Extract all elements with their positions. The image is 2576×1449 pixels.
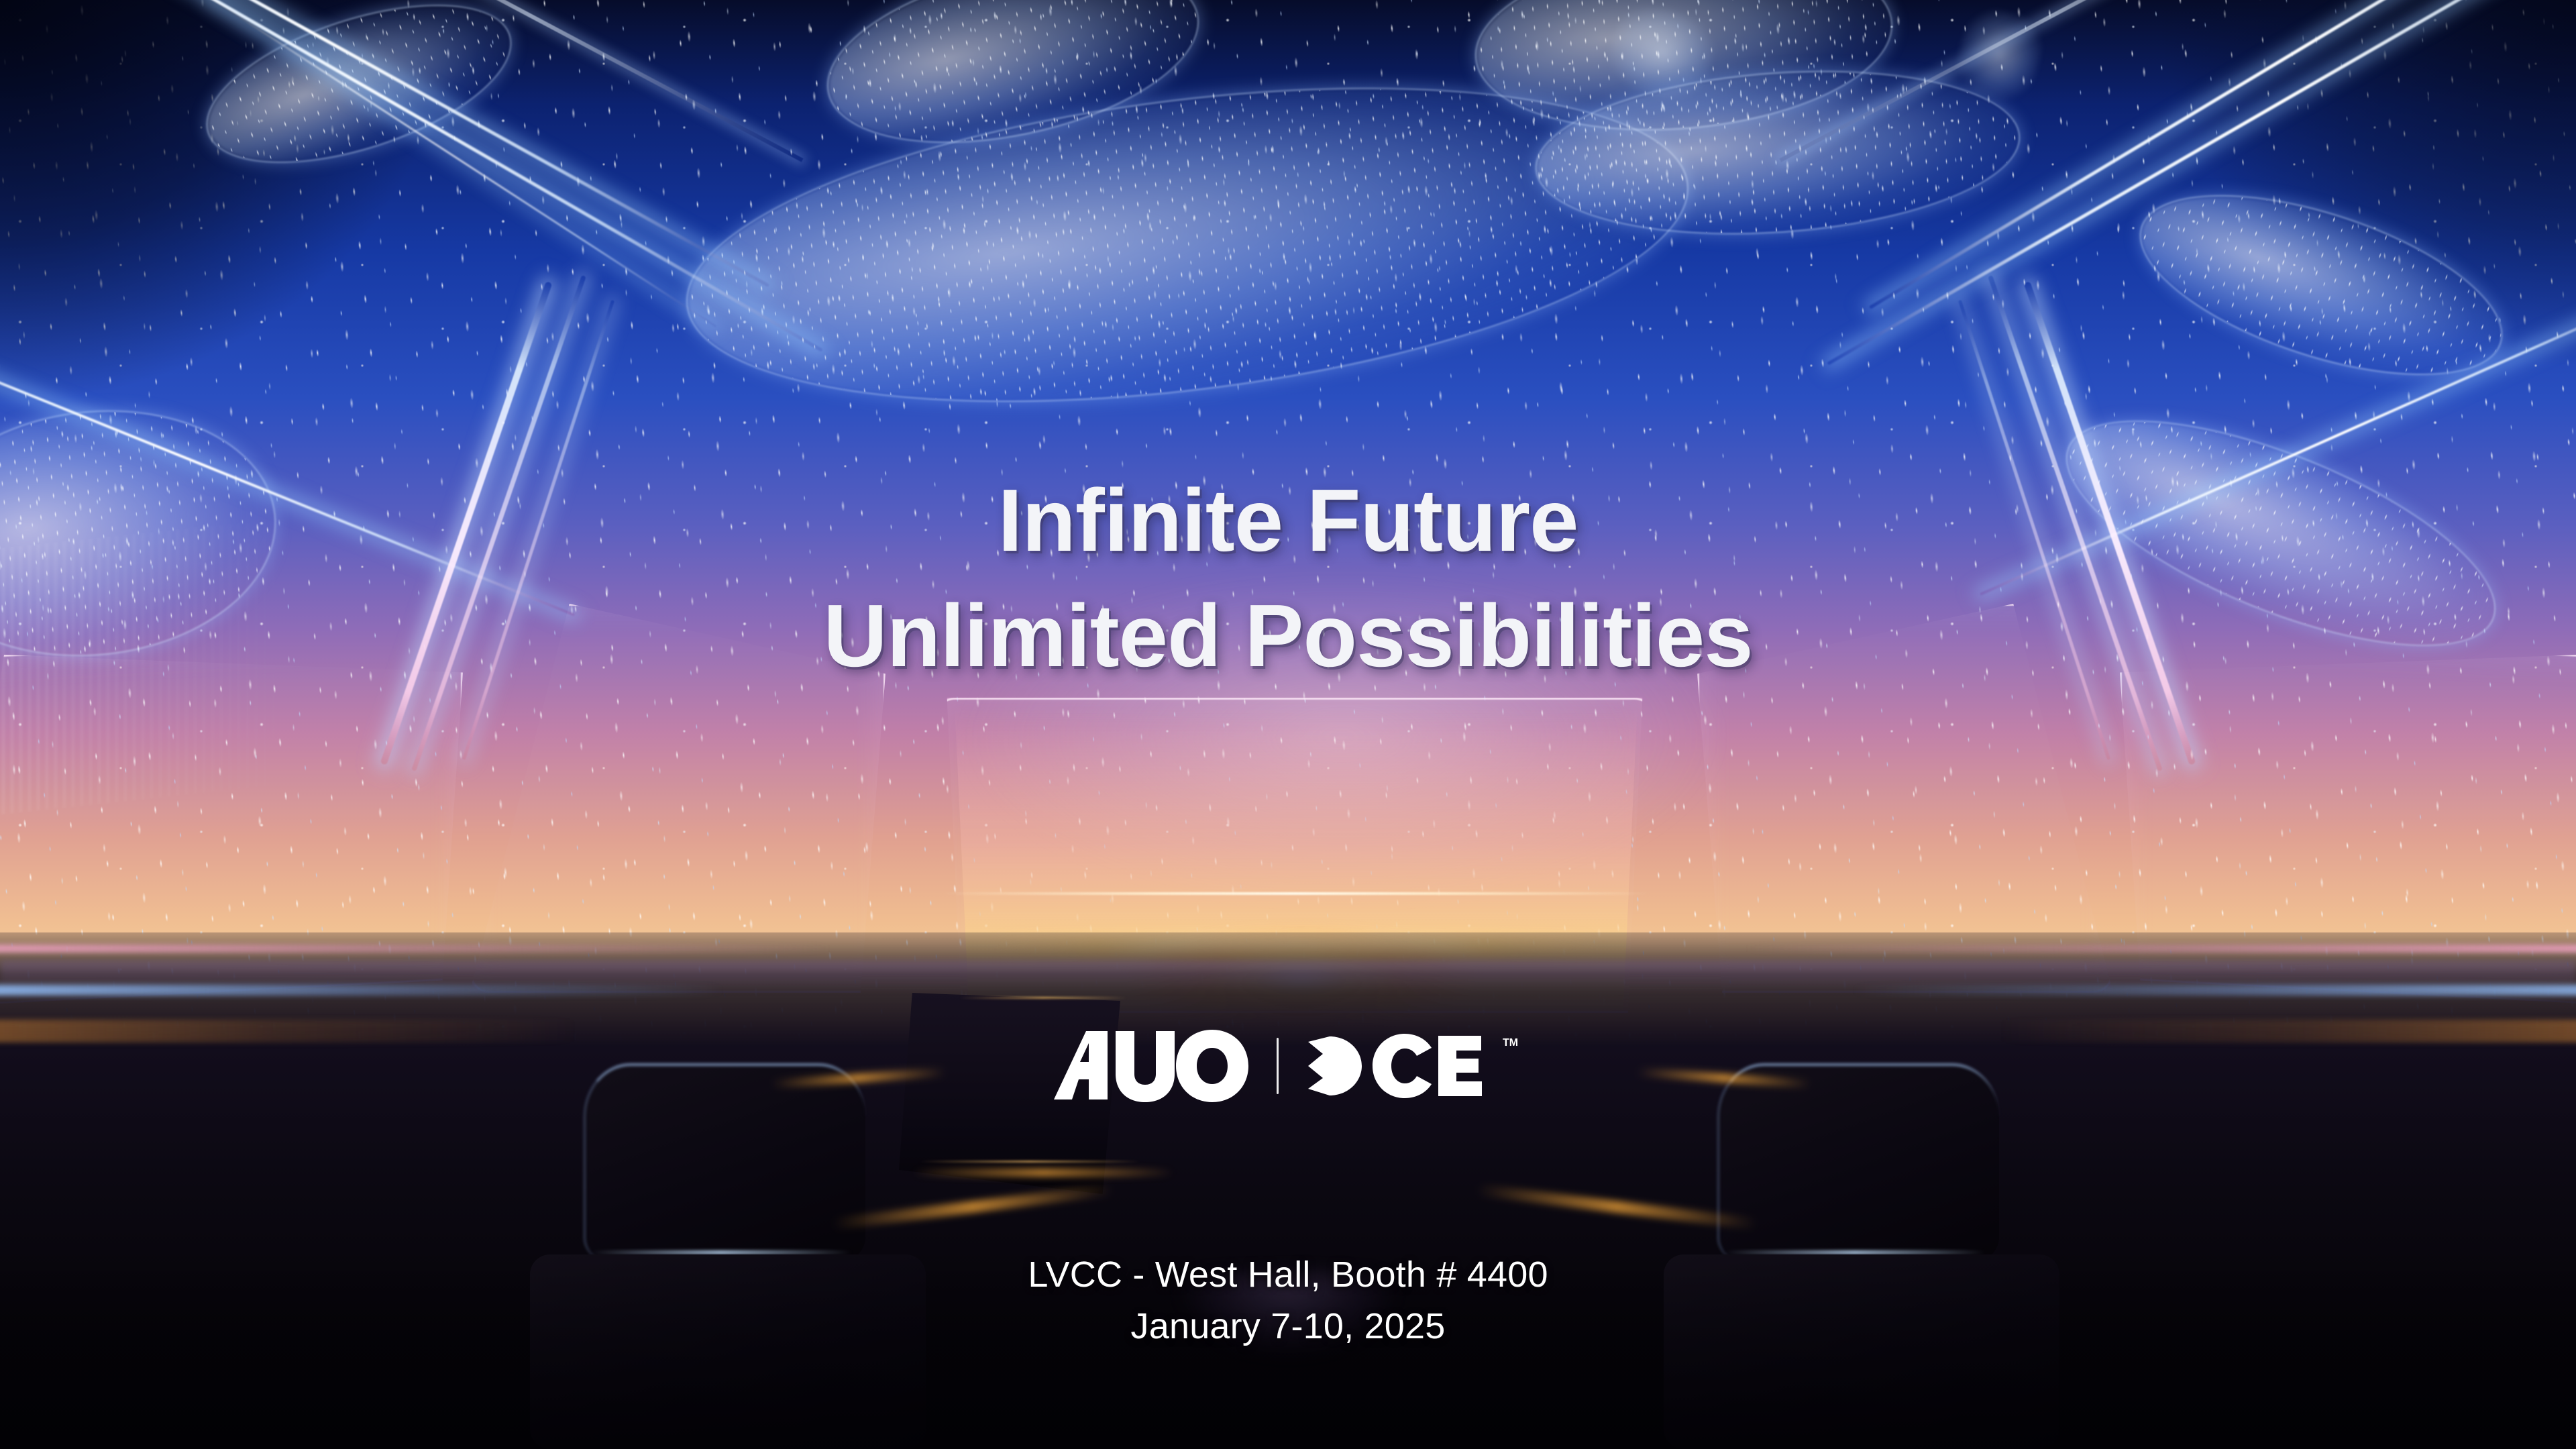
- ces-logo-wrap: TM: [1303, 1034, 1525, 1098]
- dash-band-left-blue: [0, 985, 724, 996]
- trademark-icon: TM: [1503, 1035, 1525, 1058]
- console-top-edge: [959, 997, 1127, 999]
- dash-band-right-blue: [1851, 985, 2576, 996]
- logo-divider: [1277, 1038, 1279, 1094]
- event-dates-text: January 7-10, 2025: [0, 1301, 2576, 1352]
- headline-line-1: Infinite Future: [998, 471, 1578, 570]
- roof-seam-left: [256, 0, 803, 162]
- console-amber-glow: [912, 1169, 1174, 1177]
- promo-key-visual: Infinite Future Unlimited Possibilities: [0, 0, 2576, 1449]
- console-lower-edge: [919, 1161, 1140, 1163]
- logo-lockup: TM: [0, 1030, 2576, 1102]
- dash-band-pink-upper-left: [0, 945, 832, 953]
- headline-line-2: Unlimited Possibilities: [0, 578, 2576, 694]
- roof-seam-right: [1779, 0, 2326, 162]
- ces-logo: [1303, 1034, 1504, 1098]
- page-title: Infinite Future Unlimited Possibilities: [0, 463, 2576, 693]
- dash-band-pink-upper-right: [1744, 945, 2576, 953]
- svg-text:TM: TM: [1503, 1037, 1518, 1049]
- auo-logo: [1051, 1030, 1252, 1102]
- event-details: LVCC - West Hall, Booth # 4400 January 7…: [0, 1249, 2576, 1352]
- venue-booth-text: LVCC - West Hall, Booth # 4400: [1028, 1254, 1548, 1295]
